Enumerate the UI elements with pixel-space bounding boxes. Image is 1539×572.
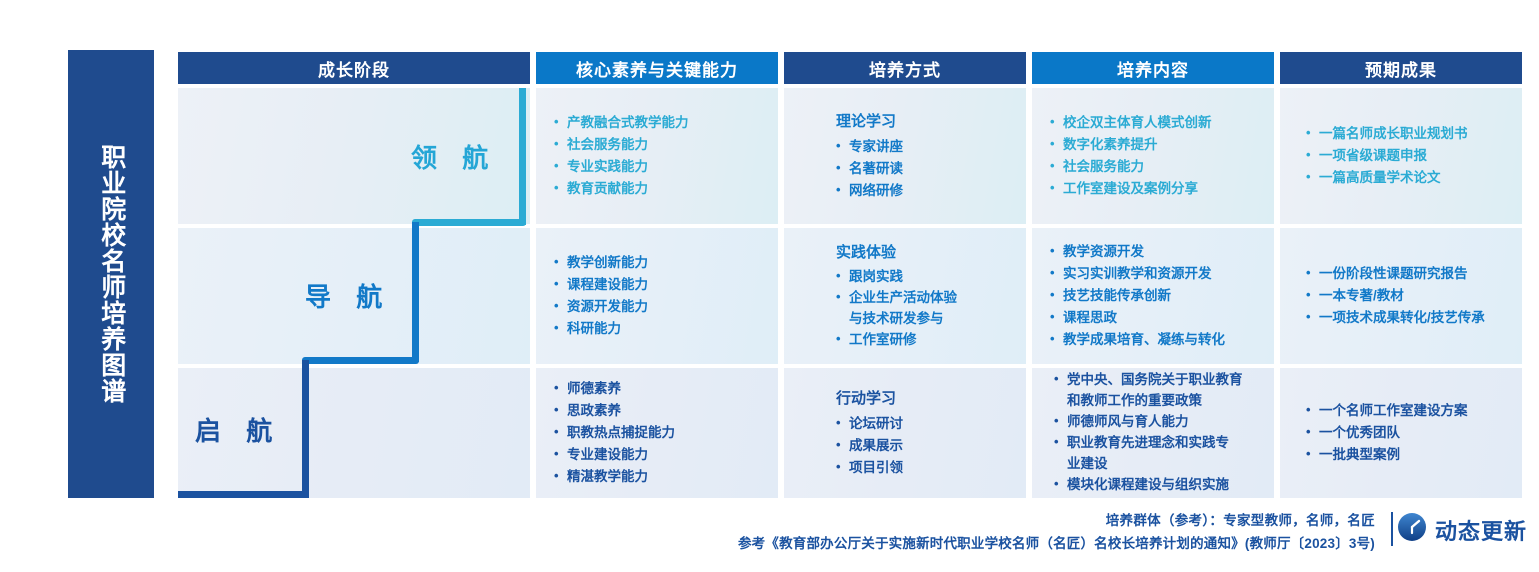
list-item: 社会服务能力: [554, 134, 768, 156]
dynamic-update-label: 动态更新: [1435, 514, 1527, 546]
list-item: 项目引领: [836, 457, 1016, 479]
stair-segment-v1: [519, 88, 526, 225]
list-item: 企业生产活动体验 与技术研发参与: [836, 288, 1016, 330]
list-item: 数字化素养提升: [1050, 134, 1264, 156]
method-cell-row3: 行动学习 论坛研讨 成果展示 项目引领: [784, 368, 1026, 498]
list-item: 一个优秀团队: [1306, 422, 1512, 444]
column-header-growth-stage: 成长阶段: [178, 52, 530, 84]
column-header-label: 成长阶段: [318, 56, 390, 81]
list-item: 工作室建设及案例分享: [1050, 178, 1264, 200]
stage-label-guide: 导 航: [305, 277, 391, 314]
list-item: 教育贡献能力: [554, 178, 768, 200]
content-cell-row2: 教学资源开发 实习实训教学和资源开发 技艺技能传承创新 课程思政 教学成果培育、…: [1032, 228, 1274, 364]
content-cell-row3: 党中央、国务院关于职业教育 和教师工作的重要政策 师德师风与育人能力 职业教育先…: [1032, 368, 1274, 498]
list-item: 专业建设能力: [554, 444, 768, 466]
column-header-training-method: 培养方式: [784, 52, 1026, 84]
competency-list-row1: 产教融合式教学能力 社会服务能力 专业实践能力 教育贡献能力: [554, 112, 768, 199]
outcome-list-row3: 一个名师工作室建设方案 一个优秀团队 一批典型案例: [1306, 400, 1512, 466]
content-list-row3: 党中央、国务院关于职业教育 和教师工作的重要政策 师德师风与育人能力 职业教育先…: [1054, 370, 1264, 496]
list-item: 一篇名师成长职业规划书: [1306, 123, 1512, 145]
column-header-label: 培养内容: [1117, 56, 1189, 81]
list-item: 科研能力: [554, 318, 768, 340]
list-item: 实习实训教学和资源开发: [1050, 263, 1264, 285]
footer-divider: [1391, 512, 1393, 546]
list-item: 社会服务能力: [1050, 156, 1264, 178]
list-item: 职教热点捕捉能力: [554, 422, 768, 444]
clock-icon: [1397, 512, 1427, 547]
column-header-label: 培养方式: [869, 56, 941, 81]
list-item: 名著研读: [836, 158, 1016, 180]
content-cell-row1: 校企双主体育人模式创新 数字化素养提升 社会服务能力 工作室建设及案例分享: [1032, 88, 1274, 224]
list-item: 模块化课程建设与组织实施: [1054, 475, 1264, 496]
vertical-title-text: 职业院校名师培养图谱: [93, 144, 129, 404]
list-item: 产教融合式教学能力: [554, 112, 768, 134]
list-item: 一项技术成果转化/技艺传承: [1306, 307, 1512, 329]
column-header-label: 预期成果: [1365, 56, 1437, 81]
column-header-core-competency: 核心素养与关键能力: [536, 52, 778, 84]
content-list-row1: 校企双主体育人模式创新 数字化素养提升 社会服务能力 工作室建设及案例分享: [1050, 112, 1264, 199]
list-item: 资源开发能力: [554, 296, 768, 318]
list-item: 一批典型案例: [1306, 444, 1512, 466]
stair-segment-h1: [412, 219, 526, 226]
list-item: 技艺技能传承创新: [1050, 285, 1264, 307]
list-item: 职业教育先进理念和实践专 业建设: [1054, 433, 1264, 475]
outcome-cell-row2: 一份阶段性课题研究报告 一本专著/教材 一项技术成果转化/技艺传承: [1280, 228, 1522, 364]
column-header-training-content: 培养内容: [1032, 52, 1274, 84]
stair-segment-v2: [412, 222, 419, 362]
footer-reference: 参考《教育部办公厅关于实施新时代职业学校名师（名匠）名校长培养计划的通知》(教师…: [738, 532, 1375, 552]
list-item: 论坛研讨: [836, 413, 1016, 435]
list-item: 一本专著/教材: [1306, 285, 1512, 307]
list-item: 一篇高质量学术论文: [1306, 167, 1512, 189]
list-item: 专家讲座: [836, 136, 1016, 158]
list-item: 精湛教学能力: [554, 466, 768, 488]
competency-cell-row3: 师德素养 思政素养 职教热点捕捉能力 专业建设能力 精湛教学能力: [536, 368, 778, 498]
list-item: 校企双主体育人模式创新: [1050, 112, 1264, 134]
list-item: 一份阶段性课题研究报告: [1306, 263, 1512, 285]
list-item: 跟岗实践: [836, 267, 1016, 288]
outcome-cell-row3: 一个名师工作室建设方案 一个优秀团队 一批典型案例: [1280, 368, 1522, 498]
method-list-row1: 专家讲座 名著研读 网络研修: [836, 136, 1016, 202]
list-item: 网络研修: [836, 180, 1016, 202]
method-subtitle-row3: 行动学习: [836, 387, 1016, 408]
outcome-cell-row1: 一篇名师成长职业规划书 一项省级课题申报 一篇高质量学术论文: [1280, 88, 1522, 224]
method-subtitle-row1: 理论学习: [836, 110, 1016, 131]
footer-target-group: 培养群体（参考）：专家型教师，名师，名匠: [1106, 509, 1375, 529]
method-list-row3: 论坛研讨 成果展示 项目引领: [836, 413, 1016, 479]
list-item: 一项省级课题申报: [1306, 145, 1512, 167]
list-item: 师德师风与育人能力: [1054, 412, 1264, 433]
vertical-title-panel: 职业院校名师培养图谱: [68, 50, 154, 498]
outcome-list-row1: 一篇名师成长职业规划书 一项省级课题申报 一篇高质量学术论文: [1306, 123, 1512, 189]
list-item: 师德素养: [554, 378, 768, 400]
list-item: 教学成果培育、凝练与转化: [1050, 329, 1264, 351]
list-item: 专业实践能力: [554, 156, 768, 178]
stage-label-start: 启 航: [195, 411, 281, 448]
stair-segment-h2: [302, 357, 419, 364]
list-item: 党中央、国务院关于职业教育 和教师工作的重要政策: [1054, 370, 1264, 412]
list-item: 教学资源开发: [1050, 241, 1264, 263]
competency-list-row3: 师德素养 思政素养 职教热点捕捉能力 专业建设能力 精湛教学能力: [554, 378, 768, 487]
competency-cell-row1: 产教融合式教学能力 社会服务能力 专业实践能力 教育贡献能力: [536, 88, 778, 224]
list-item: 成果展示: [836, 435, 1016, 457]
list-item: 课程思政: [1050, 307, 1264, 329]
stage-label-lead: 领 航: [411, 138, 497, 175]
infographic-root: 职业院校名师培养图谱 成长阶段 核心素养与关键能力 培养方式 培养内容 预期成果…: [0, 0, 1539, 572]
method-list-row2: 跟岗实践 企业生产活动体验 与技术研发参与 工作室研修: [836, 267, 1016, 351]
column-header-label: 核心素养与关键能力: [576, 56, 738, 81]
list-item: 思政素养: [554, 400, 768, 422]
outcome-list-row2: 一份阶段性课题研究报告 一本专著/教材 一项技术成果转化/技艺传承: [1306, 263, 1512, 329]
list-item: 工作室研修: [836, 330, 1016, 351]
stair-segment-v3: [302, 360, 309, 498]
list-item: 一个名师工作室建设方案: [1306, 400, 1512, 422]
stair-segment-h3: [178, 491, 309, 498]
list-item: 课程建设能力: [554, 274, 768, 296]
content-list-row2: 教学资源开发 实习实训教学和资源开发 技艺技能传承创新 课程思政 教学成果培育、…: [1050, 241, 1264, 350]
method-cell-row1: 理论学习 专家讲座 名著研读 网络研修: [784, 88, 1026, 224]
method-subtitle-row2: 实践体验: [836, 241, 1016, 262]
column-header-expected-outcome: 预期成果: [1280, 52, 1522, 84]
method-cell-row2: 实践体验 跟岗实践 企业生产活动体验 与技术研发参与 工作室研修: [784, 228, 1026, 364]
dynamic-update-badge[interactable]: 动态更新: [1397, 512, 1527, 547]
competency-cell-row2: 教学创新能力 课程建设能力 资源开发能力 科研能力: [536, 228, 778, 364]
competency-list-row2: 教学创新能力 课程建设能力 资源开发能力 科研能力: [554, 252, 768, 339]
list-item: 教学创新能力: [554, 252, 768, 274]
